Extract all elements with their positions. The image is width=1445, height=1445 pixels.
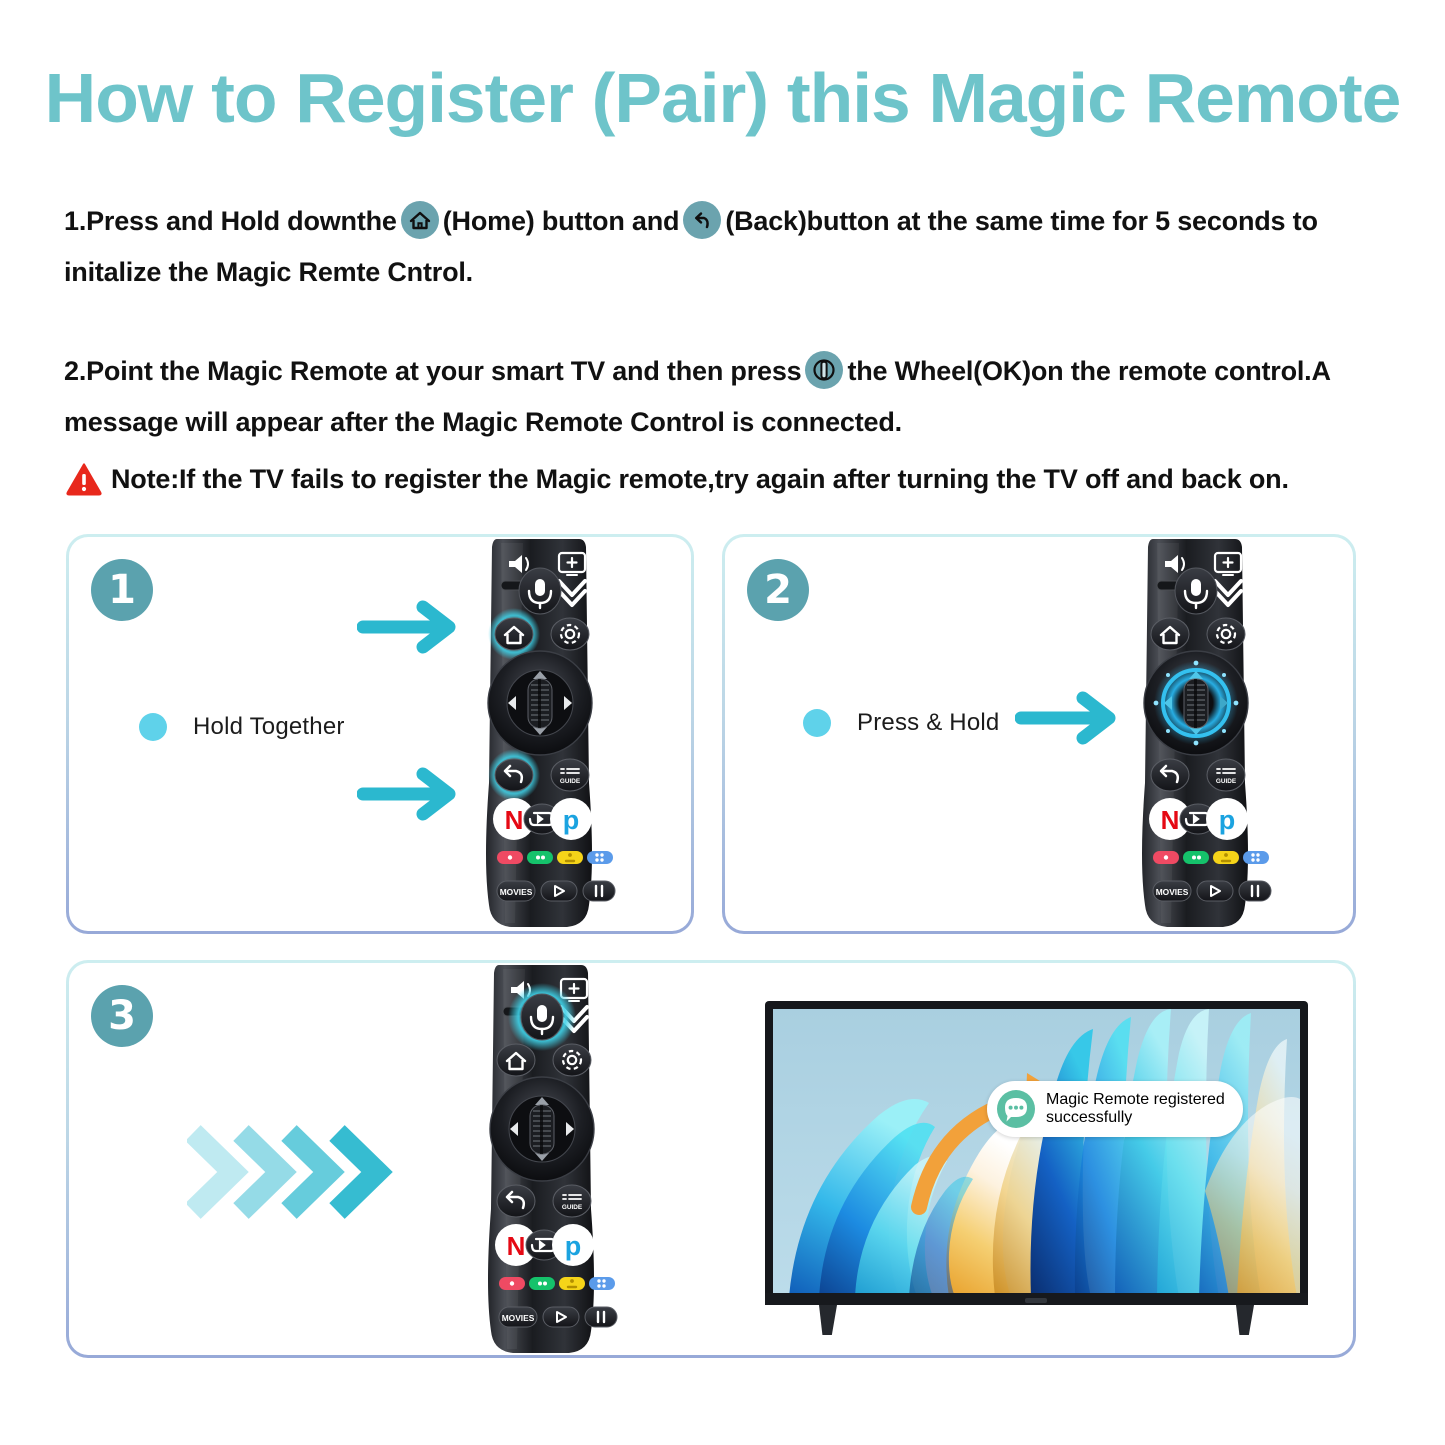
step-1-mid-1: (Home) button and xyxy=(443,206,680,236)
svg-text:N: N xyxy=(505,805,524,835)
play-button xyxy=(543,1307,579,1327)
step-badge-2: 2 xyxy=(747,559,809,621)
color-button-blue xyxy=(589,1277,615,1290)
note-row: Note:If the TV fails to register the Mag… xyxy=(66,462,1396,496)
magic-remote-step-3: GUIDE N p MOVIES xyxy=(441,959,641,1359)
step-2-line-2: message will appear after the Magic Remo… xyxy=(64,397,1384,448)
scroll-wheel-ok xyxy=(530,1105,554,1154)
panel-step-2: 2 Press & Hold xyxy=(722,534,1356,934)
step-1-mid-2: (Back)button at the same time for 5 seco… xyxy=(725,206,1317,236)
page-title: How to Register (Pair) this Magic Remote xyxy=(0,58,1445,138)
legend-hold-together: Hold Together xyxy=(139,713,345,741)
scroll-wheel-ok xyxy=(1184,679,1208,728)
step-1-line-2: initalize the Magic Remte Cntrol. xyxy=(64,247,1384,298)
svg-text:MOVIES: MOVIES xyxy=(500,887,533,897)
pause-button xyxy=(585,1307,617,1327)
svg-text:GUIDE: GUIDE xyxy=(562,1204,583,1211)
home-icon xyxy=(401,201,439,239)
toast-line-1: Magic Remote registered xyxy=(1046,1091,1225,1109)
legend-dot xyxy=(139,713,167,741)
svg-text:N: N xyxy=(507,1231,526,1261)
legend-label: Hold Together xyxy=(193,713,345,741)
magic-remote-step-2: GUIDE N p MOVIES xyxy=(1095,533,1295,933)
chevron-arrows xyxy=(187,1125,397,1220)
play-button xyxy=(541,881,577,901)
magic-remote-step-1: GUIDE N p MOVIES xyxy=(439,533,639,933)
legend-dot xyxy=(803,709,831,737)
svg-text:MOVIES: MOVIES xyxy=(1156,887,1189,897)
step-badge-1: 1 xyxy=(91,559,153,621)
toast-notification: Magic Remote registered successfully xyxy=(987,1081,1243,1137)
wheel-ok-icon xyxy=(805,351,843,389)
instructions-block: 1.Press and Hold downthe (Home) button a… xyxy=(64,196,1384,458)
smart-tv-illustration: Magic Remote registered successfully xyxy=(759,995,1314,1340)
svg-text:p: p xyxy=(1219,805,1236,835)
color-button-blue xyxy=(587,851,613,864)
step-2-prefix: 2.Point the Magic Remote at your smart T… xyxy=(64,356,801,386)
back-icon xyxy=(683,201,721,239)
svg-text:p: p xyxy=(563,805,580,835)
step-2-paragraph: 2.Point the Magic Remote at your smart T… xyxy=(64,346,1384,448)
panel-step-1: 1 Hold Together xyxy=(66,534,694,934)
step-1-prefix: 1.Press and Hold downthe xyxy=(64,206,397,236)
scroll-wheel-ok xyxy=(528,679,552,728)
color-button-blue xyxy=(1243,851,1269,864)
toast-text: Magic Remote registered successfully xyxy=(1046,1091,1225,1127)
legend-label: Press & Hold xyxy=(857,709,999,737)
pause-button xyxy=(1239,881,1271,901)
pause-button xyxy=(583,881,615,901)
play-button xyxy=(1197,881,1233,901)
toast-line-2: successfully xyxy=(1046,1109,1225,1127)
chat-bubble-icon xyxy=(996,1089,1036,1129)
step-2-mid-1: the Wheel(OK)on the remote control.A xyxy=(847,356,1330,386)
warning-triangle-icon xyxy=(66,462,102,496)
svg-text:GUIDE: GUIDE xyxy=(1216,778,1237,785)
note-text: Note:If the TV fails to register the Mag… xyxy=(111,464,1289,495)
panel-step-3: 3 xyxy=(66,960,1356,1358)
svg-text:MOVIES: MOVIES xyxy=(502,1313,535,1323)
guide-label: GUIDE xyxy=(560,778,581,785)
step-badge-3: 3 xyxy=(91,985,153,1047)
legend-press-hold: Press & Hold xyxy=(803,709,999,737)
svg-text:N: N xyxy=(1161,805,1180,835)
step-1-paragraph: 1.Press and Hold downthe (Home) button a… xyxy=(64,196,1384,298)
svg-text:p: p xyxy=(565,1231,582,1261)
